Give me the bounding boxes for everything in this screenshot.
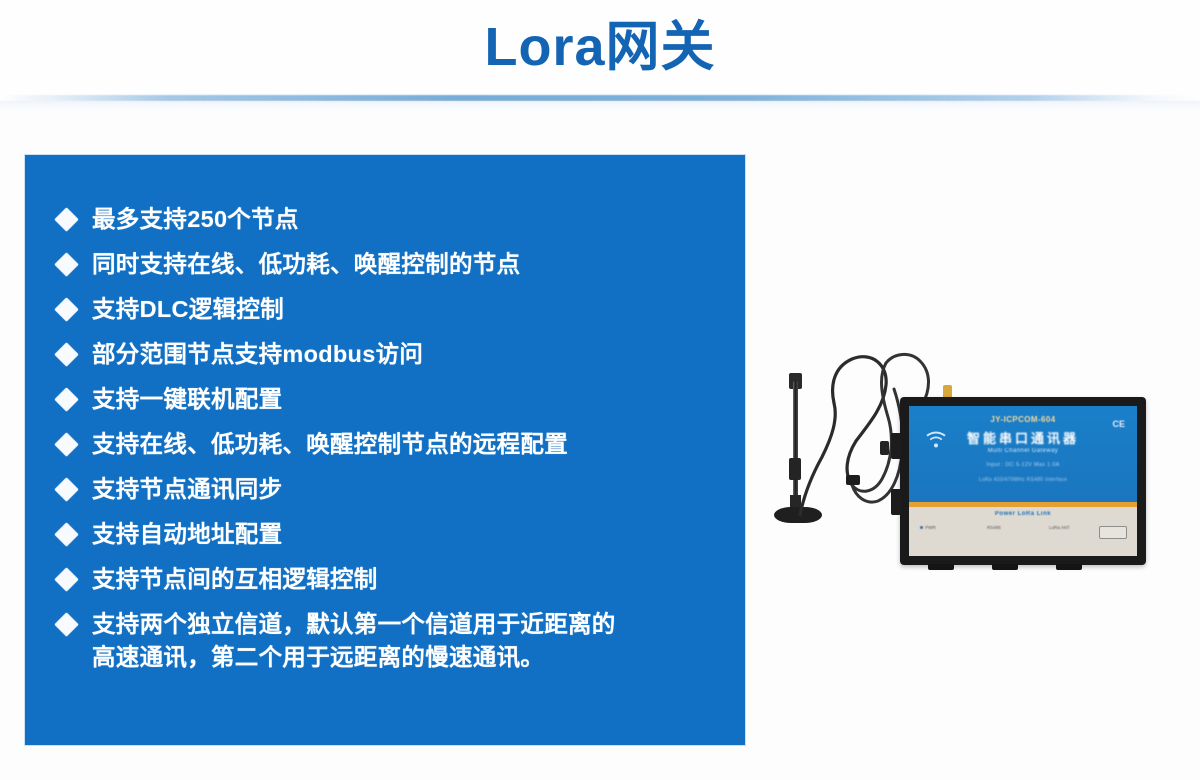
device-bottom-brand-text: Power LoRa Link — [909, 511, 1137, 517]
page-title: Lora网关 — [0, 12, 1200, 82]
feature-text: 最多支持250个节点 — [92, 203, 727, 236]
feature-text: 支持自动地址配置 — [92, 518, 727, 551]
feature-text: 支持一键联机配置 — [92, 383, 727, 416]
device-foot — [992, 564, 1018, 570]
diamond-bullet-icon — [54, 252, 78, 276]
device-model-text: JY-ICPCOM-604 — [909, 415, 1137, 424]
feature-text-line1: 支持两个独立信道，默认第一个信道用于近距离的 — [92, 611, 616, 637]
title-divider-shadow — [0, 101, 1200, 111]
device-faceplate: CE JY-ICPCOM-604 智能串口通讯器 Multi Channel G… — [909, 406, 1137, 556]
feature-text: 支持节点间的互相逻辑控制 — [92, 563, 727, 596]
list-item: 部分范围节点支持modbus访问 — [58, 338, 727, 371]
lora-gateway-device: CE JY-ICPCOM-604 智能串口通讯器 Multi Channel G… — [900, 397, 1146, 565]
list-item: 支持一键联机配置 — [58, 383, 727, 416]
diamond-bullet-icon — [54, 207, 78, 231]
device-spec-line2: LoRa 433/470MHz RS485 Interface — [909, 477, 1137, 483]
device-port-panel: Power LoRa Link PWR RS485 LoRa ANT — [909, 507, 1137, 556]
led-indicator-icon — [920, 526, 923, 529]
device-name-text: 智能串口通讯器 — [909, 428, 1137, 447]
diamond-bullet-icon — [54, 432, 78, 456]
list-item: 支持节点通讯同步 — [58, 473, 727, 506]
feature-text-line2: 高速通讯，第二个用于远距离的慢速通讯。 — [92, 641, 727, 674]
cable-tie-icon — [846, 475, 860, 485]
feature-panel: 最多支持250个节点 同时支持在线、低功耗、唤醒控制的节点 支持DLC逻辑控制 … — [25, 155, 745, 745]
list-item: 同时支持在线、低功耗、唤醒控制的节点 — [58, 248, 727, 281]
list-item: 支持两个独立信道，默认第一个信道用于近距离的 高速通讯，第二个用于远距离的慢速通… — [58, 608, 727, 674]
product-photo: CE JY-ICPCOM-604 智能串口通讯器 Multi Channel G… — [760, 345, 1160, 580]
list-item: 支持节点间的互相逻辑控制 — [58, 563, 727, 596]
cable-ferrite-icon — [880, 441, 889, 455]
device-spec-line1: Input : DC 5-12V Max 1.0A — [909, 462, 1137, 468]
mounting-tab — [891, 489, 901, 515]
feature-text: 部分范围节点支持modbus访问 — [92, 338, 727, 371]
feature-text: 支持两个独立信道，默认第一个信道用于近距离的 高速通讯，第二个用于远距离的慢速通… — [92, 608, 727, 674]
port-label-lora-ant: LoRa ANT — [1049, 525, 1070, 530]
diamond-bullet-icon — [54, 387, 78, 411]
feature-list: 最多支持250个节点 同时支持在线、低功耗、唤醒控制的节点 支持DLC逻辑控制 … — [58, 203, 727, 686]
port-label-pwr: PWR — [919, 525, 936, 530]
diamond-bullet-icon — [54, 342, 78, 366]
dc-in-jack-icon — [1099, 526, 1127, 539]
device-foot — [1056, 564, 1082, 570]
list-item: 最多支持250个节点 — [58, 203, 727, 236]
mounting-tab — [891, 433, 901, 459]
feature-text: 支持DLC逻辑控制 — [92, 293, 727, 326]
diamond-bullet-icon — [54, 522, 78, 546]
diamond-bullet-icon — [54, 297, 78, 321]
device-foot — [928, 564, 954, 570]
diamond-bullet-icon — [54, 612, 78, 636]
diamond-bullet-icon — [54, 567, 78, 591]
diamond-bullet-icon — [54, 477, 78, 501]
feature-text: 支持在线、低功耗、唤醒控制节点的远程配置 — [92, 428, 727, 461]
list-item: 支持在线、低功耗、唤醒控制节点的远程配置 — [58, 428, 727, 461]
device-label-panel: CE JY-ICPCOM-604 智能串口通讯器 Multi Channel G… — [909, 406, 1137, 502]
page-header: Lora网关 — [0, 0, 1200, 100]
feature-text: 支持节点通讯同步 — [92, 473, 727, 506]
device-subtitle-text: Multi Channel Gateway — [909, 448, 1137, 454]
list-item: 支持自动地址配置 — [58, 518, 727, 551]
port-label-rs485: RS485 — [987, 525, 1001, 530]
list-item: 支持DLC逻辑控制 — [58, 293, 727, 326]
feature-text: 同时支持在线、低功耗、唤醒控制的节点 — [92, 248, 727, 281]
